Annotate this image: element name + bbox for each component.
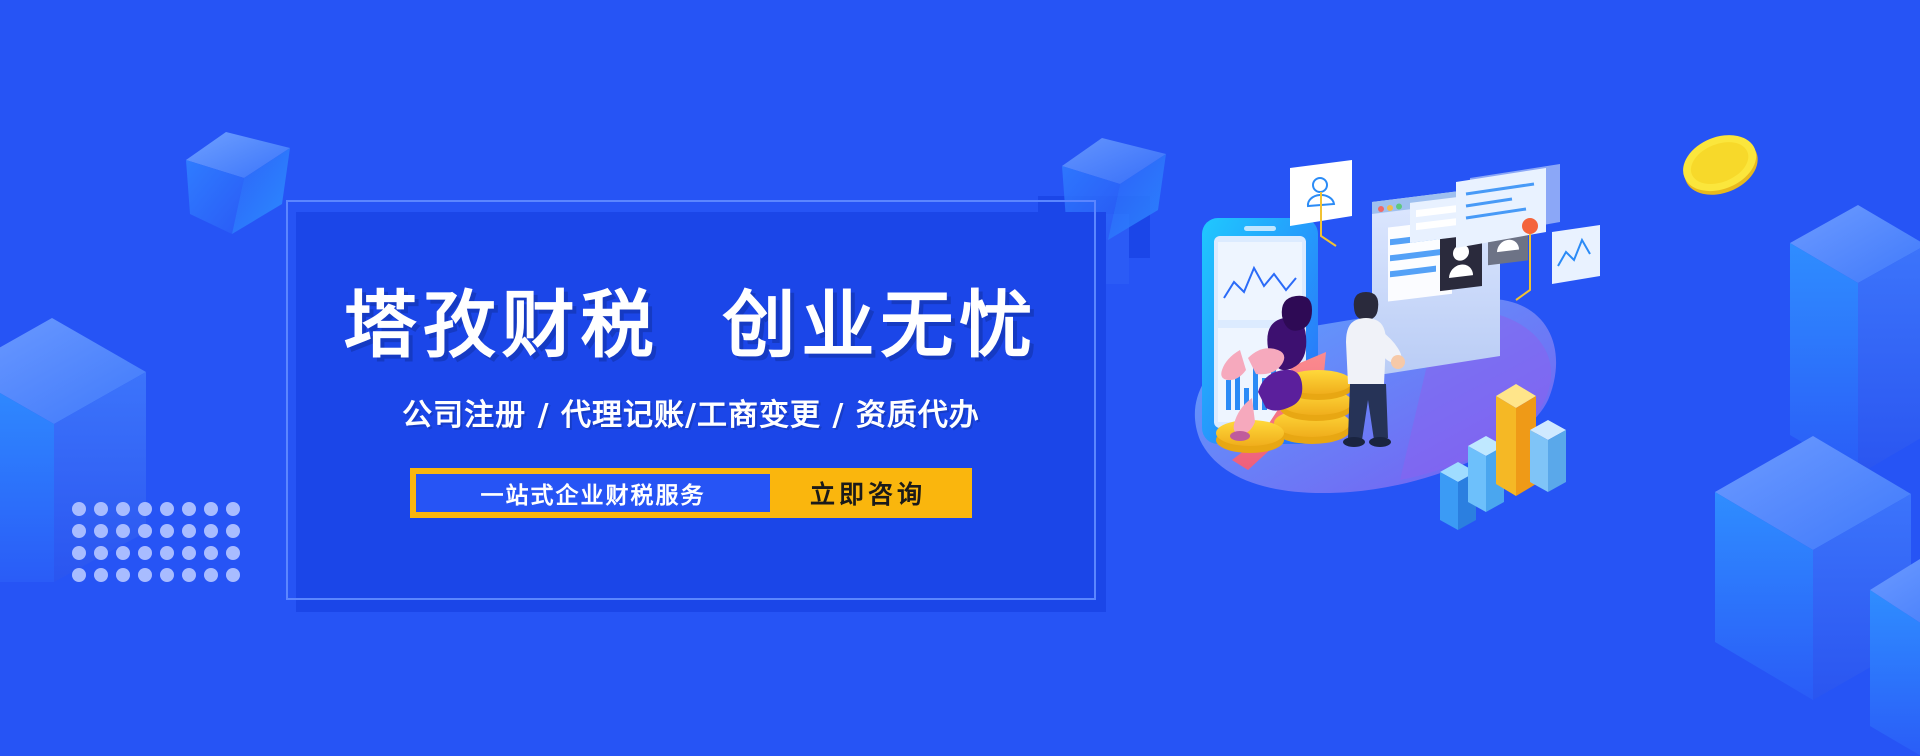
grid-dot bbox=[138, 502, 152, 516]
coin-large-icon bbox=[1671, 120, 1768, 207]
grid-dot bbox=[182, 568, 196, 582]
dot-grid-row bbox=[68, 564, 244, 586]
cta-tagline: 一站式企业财税服务 bbox=[416, 474, 770, 512]
cta-bar: 一站式企业财税服务 立即咨询 bbox=[410, 468, 972, 518]
grid-dot bbox=[94, 502, 108, 516]
grid-dot bbox=[116, 568, 130, 582]
iso-cube-left-icon bbox=[186, 122, 298, 240]
grid-dot bbox=[226, 546, 240, 560]
grid-dot bbox=[226, 524, 240, 538]
grid-dot bbox=[138, 568, 152, 582]
grid-dot bbox=[182, 546, 196, 560]
grid-dot bbox=[138, 546, 152, 560]
grid-dot bbox=[94, 524, 108, 538]
grid-dot bbox=[182, 524, 196, 538]
isometric-fintech-illustration bbox=[1140, 140, 1600, 560]
grid-dot bbox=[204, 568, 218, 582]
grid-dot bbox=[72, 546, 86, 560]
grid-dot bbox=[160, 502, 174, 516]
service-list: 公司注册 / 代理记账/工商变更 / 资质代办 bbox=[402, 390, 980, 434]
dot-grid bbox=[68, 498, 244, 586]
grid-dot bbox=[204, 546, 218, 560]
consult-now-button[interactable]: 立即咨询 bbox=[770, 474, 966, 512]
dot-grid-row bbox=[68, 498, 244, 520]
grid-dot bbox=[160, 568, 174, 582]
grid-dot bbox=[204, 502, 218, 516]
grid-dot bbox=[116, 524, 130, 538]
illustration-line-chart-card bbox=[1552, 225, 1600, 284]
grid-dot bbox=[94, 546, 108, 560]
dot-grid-row bbox=[68, 520, 244, 542]
grid-dot bbox=[226, 502, 240, 516]
grid-dot bbox=[116, 546, 130, 560]
grid-dot bbox=[116, 502, 130, 516]
grid-dot bbox=[72, 524, 86, 538]
grid-dot bbox=[160, 546, 174, 560]
grid-dot bbox=[182, 502, 196, 516]
headline-content: 塔孜财税 创业无忧 公司注册 / 代理记账/工商变更 / 资质代办 一站式企业财… bbox=[286, 200, 1096, 600]
grid-dot bbox=[160, 524, 174, 538]
dot-grid-row bbox=[68, 542, 244, 564]
grid-dot bbox=[204, 524, 218, 538]
page-title: 塔孜财税 创业无忧 bbox=[344, 288, 1039, 365]
promo-banner: 塔孜财税 创业无忧 公司注册 / 代理记账/工商变更 / 资质代办 一站式企业财… bbox=[0, 0, 1920, 756]
grid-dot bbox=[72, 568, 86, 582]
grid-dot bbox=[94, 568, 108, 582]
iso-block-right-edge-icon bbox=[1870, 520, 1920, 756]
grid-dot bbox=[138, 524, 152, 538]
grid-dot bbox=[72, 502, 86, 516]
grid-dot bbox=[226, 568, 240, 582]
